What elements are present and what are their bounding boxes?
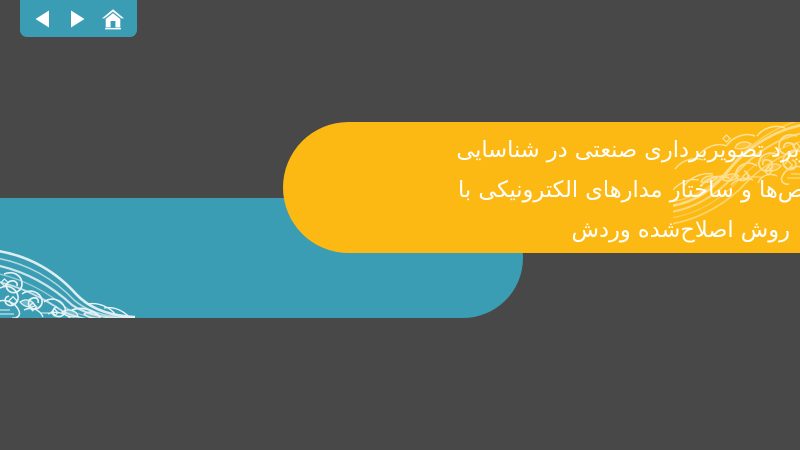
triangle-left-icon — [34, 9, 51, 29]
presentation-slide: کاربرد تصویربرداری صنعتی در شناسایی نقص‌… — [0, 0, 800, 450]
previous-slide-button[interactable] — [29, 6, 55, 32]
slide-navigation-bar — [20, 0, 137, 37]
next-slide-button[interactable] — [65, 6, 91, 32]
arabesque-corner-ornament — [0, 210, 135, 318]
home-button[interactable] — [100, 6, 126, 32]
home-icon — [101, 8, 125, 30]
yellow-title-panel — [283, 122, 800, 253]
arabesque-corner-ornament — [673, 122, 800, 232]
triangle-right-icon — [69, 9, 86, 29]
